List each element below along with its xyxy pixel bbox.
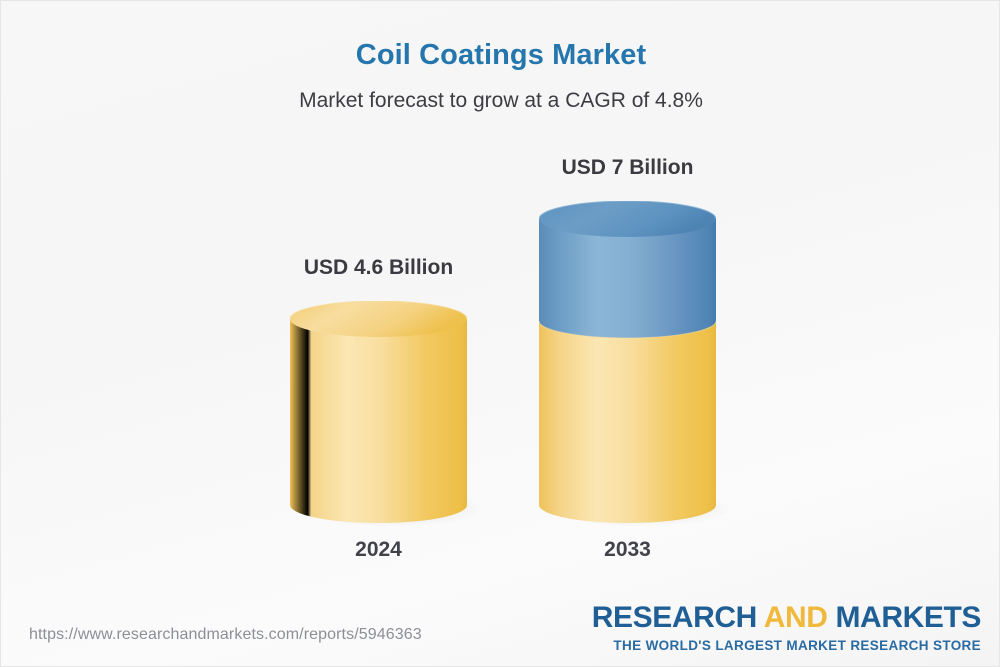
bar-value-label-2033: USD 7 Billion	[539, 156, 716, 180]
brand-logo-wordmark: RESEARCH AND MARKETS	[592, 603, 981, 633]
chart-plot-area: USD 4.6 Billion	[1, 1, 1000, 601]
chart-canvas: Coil Coatings Market Market forecast to …	[0, 0, 1000, 667]
brand-logo[interactable]: RESEARCH AND MARKETS THE WORLD'S LARGEST…	[592, 603, 981, 653]
bar-value-label-2024: USD 4.6 Billion	[290, 256, 467, 280]
bar-cylinder-2024[interactable]	[290, 301, 467, 523]
brand-logo-tagline: THE WORLD'S LARGEST MARKET RESEARCH STOR…	[592, 639, 981, 653]
bar-cylinder-2033[interactable]	[539, 201, 716, 523]
brand-logo-and: AND	[764, 601, 828, 634]
report-url[interactable]: https://www.researchandmarkets.com/repor…	[29, 626, 422, 644]
bar-category-label-2033: 2033	[539, 538, 716, 562]
brand-logo-research: RESEARCH	[592, 601, 764, 634]
brand-logo-markets: MARKETS	[828, 601, 981, 634]
bar-category-label-2024: 2024	[290, 538, 467, 562]
